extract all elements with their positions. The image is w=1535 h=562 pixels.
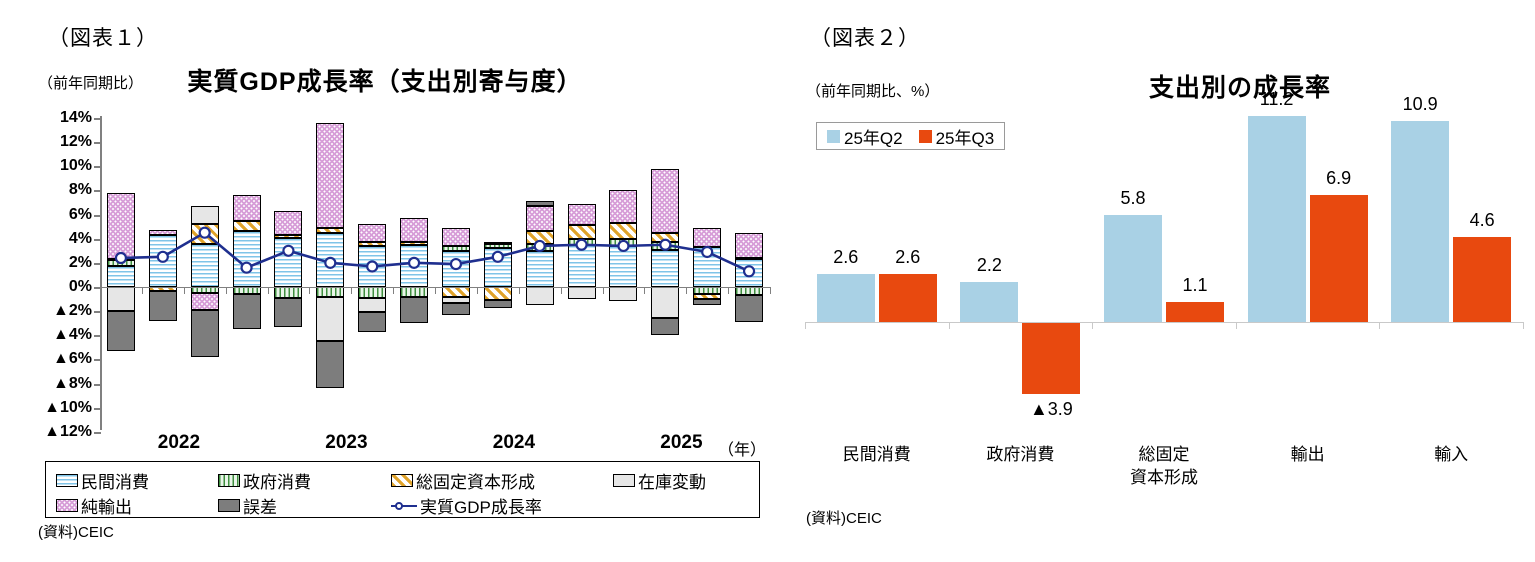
stacked-bar [568,116,596,430]
figure-2-bar [1310,195,1368,322]
x-axis-tick [268,287,269,294]
bar-segment-net-export [484,242,512,244]
y-axis-tick-label: ▲6% [18,351,92,367]
stacked-bar [149,116,177,430]
legend-item-gdp_line: 実質GDP成長率 [391,493,542,518]
bar-segment-net-export [400,218,428,242]
figure-2-axis-tick [805,322,806,329]
x-axis-year-label: 2024 [493,432,535,454]
figure-2-axis-tick [1523,322,1524,329]
bar-segment-inventory [526,287,554,305]
bar-segment-inventory [191,206,219,224]
x-axis-unit-label: （年） [718,436,766,460]
x-axis-tick [728,287,729,294]
legend-label: 民間消費 [81,473,149,492]
figure-2-bar [1391,121,1449,322]
bar-segment-consumption [400,245,428,287]
y-axis-tick [94,166,101,168]
bar-segment-consumption [735,259,763,287]
figure-2-bar-value-label: 1.1 [1155,275,1235,296]
y-axis-tick-label: 6% [18,207,92,223]
x-axis-tick [603,287,604,294]
y-axis-tick-label: 4% [18,231,92,247]
bar-segment-consumption [149,235,177,287]
x-axis-tick [100,287,101,294]
figure-2-bar [1248,116,1306,322]
x-axis-tick [686,287,687,294]
bar-segment-consumption [693,247,721,287]
stacked-bar [358,116,386,430]
legend-swatch-gov [218,474,240,487]
bar-segment-government [651,242,679,249]
y-axis-tick-label: 2% [18,255,92,271]
figure-2-category-label-line: 資本形成 [1094,467,1234,490]
bar-segment-gfcf [358,242,386,246]
bar-segment-gfcf [484,287,512,300]
bar-segment-gfcf [651,233,679,243]
y-axis-tick [94,432,101,434]
bar-segment-consumption [107,266,135,287]
bar-segment-error [651,318,679,335]
bar-segment-consumption [316,233,344,287]
stacked-bar [274,116,302,430]
bar-segment-error [400,297,428,324]
figure-2-category-label: 輸出 [1238,444,1378,467]
figure-2-bar-value-label: 4.6 [1442,210,1522,231]
figure-2-bar [1166,302,1224,322]
bar-segment-net-export [442,228,470,246]
bar-segment-error [316,341,344,388]
bar-segment-consumption [526,251,554,287]
stacked-bar [526,116,554,430]
y-axis-tick [94,239,101,241]
figure-2-bar-value-label: 11.2 [1237,89,1317,110]
figure-2-bar [1453,237,1511,322]
y-axis-tick [94,384,101,386]
legend-label: 総固定資本形成 [416,473,535,492]
y-axis-tick-label: 12% [18,134,92,150]
bar-segment-government [526,244,554,251]
y-axis-tick [94,335,101,337]
bar-segment-error [274,298,302,327]
figure-2-bar [879,274,937,322]
stacked-bar [651,116,679,430]
x-axis-tick [561,287,562,294]
bar-segment-error [442,303,470,315]
legend-item-err: 誤差 [218,493,277,518]
stacked-bar [400,116,428,430]
bar-segment-net-export [233,195,261,220]
figure-2-axis-tick [1379,322,1380,329]
figure-1-unit-note: （前年同期比） [38,72,143,93]
bar-segment-consumption [609,246,637,287]
figure-2-category-label: 民間消費 [807,444,947,467]
stacked-bar [735,116,763,430]
figure-2-bar-value-label: 5.8 [1093,188,1173,209]
bar-segment-net-export [191,293,219,310]
bar-segment-error [735,295,763,322]
legend-swatch-err [218,499,240,512]
x-axis-tick [142,287,143,294]
bar-segment-gfcf [735,258,763,260]
bar-segment-government [274,287,302,298]
legend-label: 実質GDP成長率 [420,498,542,517]
bar-segment-error [693,299,721,305]
bar-segment-net-export [107,193,135,258]
figure-2-source: (資料)CEIC [806,507,882,528]
legend-swatch-inv [613,474,635,487]
legend-item-net: 純輸出 [56,493,132,518]
bar-segment-inventory [316,297,344,342]
y-axis-tick-label: ▲8% [18,376,92,392]
figure-2-bar-value-label: ▲3.9 [1011,399,1091,420]
bar-segment-net-export [693,228,721,247]
figure-2-category-label-line: 輸入 [1381,444,1521,467]
figure-2-bar-value-label: 10.9 [1380,94,1460,115]
bar-segment-consumption [484,248,512,287]
y-axis-tick-label: 10% [18,158,92,174]
figure-2-bar-value-label: 2.2 [949,255,1029,276]
figure-1-plot-area [100,116,770,430]
figure-2-bar [1022,322,1080,394]
y-axis-tick-label: 14% [18,110,92,126]
x-axis-year-label: 2023 [325,432,367,454]
bar-segment-inventory [358,298,386,312]
bar-segment-consumption [274,238,302,287]
y-axis-tick [94,311,101,313]
y-axis-tick [94,142,101,144]
y-axis-tick-label: ▲10% [18,400,92,416]
bar-segment-gfcf [400,242,428,244]
bar-segment-gfcf [526,231,554,243]
x-axis-tick [644,287,645,294]
stacked-bar [316,116,344,430]
legend-swatch-cons [56,474,78,487]
legend-item-gov: 政府消費 [218,468,311,493]
figure-1-source: (資料)CEIC [38,521,114,542]
bar-segment-net-export [651,169,679,233]
x-axis-tick [393,287,394,294]
figure-2-axis-tick [949,322,950,329]
bar-segment-consumption [651,250,679,287]
bar-segment-error [484,300,512,307]
y-axis-tick [94,263,101,265]
y-axis-tick [94,118,101,120]
bar-segment-government [316,287,344,297]
bar-segment-net-export [609,190,637,223]
bar-segment-gfcf [609,223,637,239]
bar-segment-inventory [568,287,596,299]
x-axis-tick [435,287,436,294]
figure-2-bar [1104,215,1162,322]
x-axis-tick [519,287,520,294]
figure-2-axis-tick [1092,322,1093,329]
legend-item-cons: 民間消費 [56,468,149,493]
figure-2-bar-value-label: 6.9 [1299,168,1379,189]
figure-2-number: （図表２） [810,22,920,52]
bar-segment-net-export [316,123,344,228]
x-axis-tick [770,287,771,294]
y-axis-tick-label: ▲4% [18,327,92,343]
figure-2-category-label-line: 政府消費 [950,444,1090,467]
legend-label: 純輸出 [81,498,132,517]
bar-segment-error [233,294,261,329]
bar-segment-error [107,311,135,351]
bar-segment-inventory [107,287,135,311]
x-axis-tick [477,287,478,294]
x-axis-year-label: 2022 [158,432,200,454]
x-axis-tick [309,287,310,294]
figure-1-title: 実質GDP成長率（支出別寄与度） [150,62,620,98]
figure-2-category-label: 輸入 [1381,444,1521,467]
legend-label: 在庫変動 [638,473,706,492]
x-axis-year-label: 2025 [660,432,702,454]
bar-segment-net-export [526,206,554,231]
figure-1-legend: 民間消費政府消費総固定資本形成在庫変動純輸出誤差実質GDP成長率 [45,461,760,518]
legend-item-inv: 在庫変動 [613,468,706,493]
stacked-bar [442,116,470,430]
legend-item-gfcf: 総固定資本形成 [391,468,535,493]
bar-segment-consumption [442,251,470,287]
bar-segment-government [693,287,721,294]
bar-segment-net-export [274,211,302,235]
bar-segment-error [149,291,177,321]
stacked-bar [191,116,219,430]
figure-2-unit-note: （前年同期比、%） [806,80,939,101]
bar-segment-error [358,312,386,331]
bar-segment-gfcf [233,221,261,232]
bar-segment-gfcf [107,259,135,261]
legend-label: 誤差 [243,498,277,517]
figure-2-bar-value-label: 2.6 [868,247,948,268]
figure-2-category-label-line: 民間消費 [807,444,947,467]
bar-segment-net-export [568,204,596,226]
bar-segment-gfcf [191,224,219,243]
figure-2-bar [960,282,1018,322]
bar-segment-gfcf [568,225,596,238]
bar-segment-consumption [191,244,219,287]
y-axis-tick [94,408,101,410]
bar-segment-inventory [609,287,637,301]
bar-segment-government [609,239,637,246]
bar-segment-gfcf [442,287,470,297]
bar-segment-government [233,287,261,294]
y-axis-tick [94,359,101,361]
legend-label: 政府消費 [243,473,311,492]
bar-segment-consumption [358,246,386,287]
bar-segment-consumption [568,245,596,287]
bar-segment-gfcf [316,228,344,233]
bar-segment-gfcf [274,235,302,237]
x-axis-tick [184,287,185,294]
figure-2-baseline [805,322,1523,323]
y-axis-tick [94,190,101,192]
stacked-bar [107,116,135,430]
figure-2-axis-tick [1236,322,1237,329]
stacked-bar [693,116,721,430]
figure-2-bar [817,274,875,322]
stacked-bar [233,116,261,430]
figure-2-category-label: 総固定資本形成 [1094,444,1234,490]
y-axis-tick-label: ▲2% [18,303,92,319]
figure-2-category-label: 政府消費 [950,444,1090,467]
legend-swatch-gfcf [391,474,413,487]
bar-segment-net-export [358,224,386,242]
y-axis-tick [94,215,101,217]
bar-segment-net-export [149,230,177,235]
bar-segment-government [735,287,763,295]
x-axis-tick [226,287,227,294]
bar-segment-government [400,287,428,297]
stacked-bar [609,116,637,430]
y-axis-tick-label: ▲12% [18,424,92,440]
bar-segment-consumption [233,231,261,287]
bar-segment-government [442,246,470,251]
figure-2-category-label-line: 総固定 [1094,444,1234,467]
bar-segment-error [526,201,554,206]
bar-segment-government [358,287,386,298]
figure-1-number: （図表１） [48,22,158,52]
gdp-line-legend-icon [391,499,417,512]
bar-segment-error [191,310,219,357]
legend-swatch-net [56,499,78,512]
figure-1-panel: （図表１） （前年同期比） 実質GDP成長率（支出別寄与度） 14%12%10%… [0,0,800,562]
stacked-bar [484,116,512,430]
y-axis-tick-label: 0% [18,279,92,295]
x-axis-tick [351,287,352,294]
bar-segment-inventory [651,287,679,318]
bar-segment-net-export [735,233,763,258]
figure-2-category-label-line: 輸出 [1238,444,1378,467]
y-axis-tick-label: 8% [18,182,92,198]
bar-segment-government [568,239,596,245]
